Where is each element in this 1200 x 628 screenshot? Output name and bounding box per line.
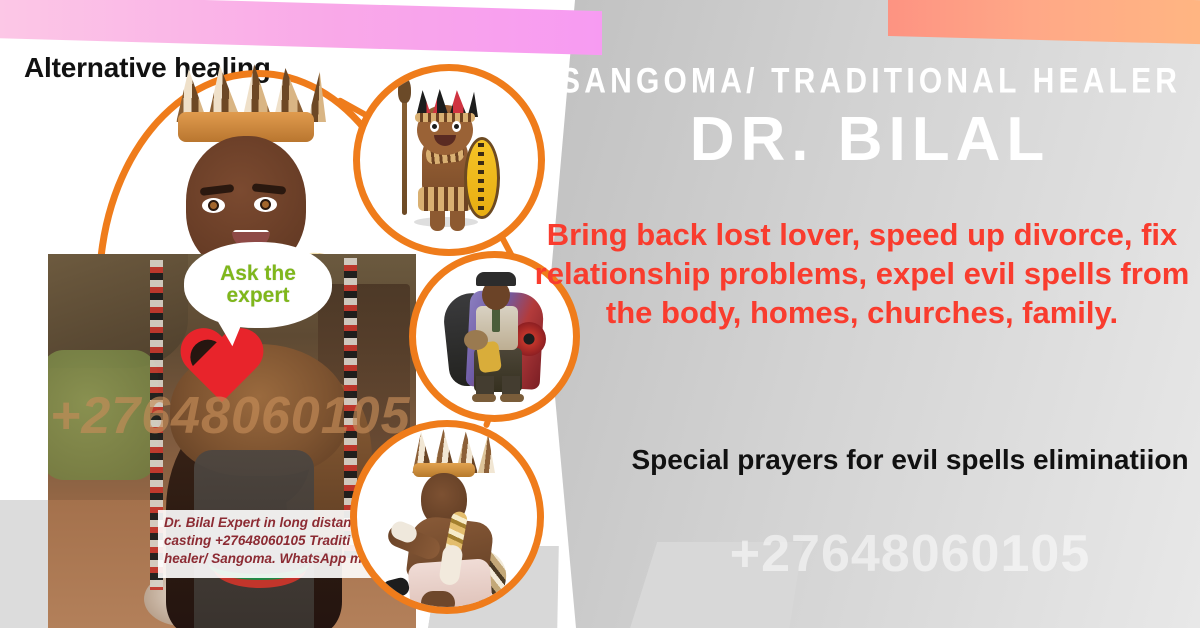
photo-phone-watermark: +27648060105 (50, 386, 430, 446)
speech-bubble-text: Ask the expert (211, 263, 305, 307)
kicker-text: SANGOMA/ TRADITIONAL HEALER (560, 62, 1180, 102)
phone-watermark: +27648060105 (620, 524, 1200, 584)
diviner-hat (476, 272, 516, 286)
poster-canvas: Alternative healing (0, 0, 1200, 628)
hero-pupil-left (208, 200, 219, 211)
pink-gradient-bar (0, 0, 602, 55)
diviner-sandal-right (500, 394, 524, 402)
brand-name: DR. BILAL (560, 104, 1180, 175)
warrior-spear-tip (398, 77, 411, 103)
warrior-shadow (414, 217, 478, 227)
diviner-sandal-left (472, 394, 496, 402)
subheading-text: Special prayers for evil spells eliminat… (620, 442, 1200, 478)
crouching-warrior-illustration (350, 420, 544, 614)
warrior-spear-shaft (402, 89, 407, 215)
caption-line-3: healer/ Sangoma. WhatsApp m (164, 550, 380, 568)
diviner-satchel (464, 330, 488, 350)
crouching-leg (421, 591, 455, 614)
warrior-eye-left (430, 121, 439, 132)
hero-pupil-right (260, 199, 271, 210)
speech-bubble-icon: Ask the expert (184, 242, 332, 328)
warrior-eye-right (452, 121, 461, 132)
zulu-warrior-illustration (353, 64, 545, 256)
caption-line-2: casting +27648060105 Traditi (164, 532, 380, 550)
services-description: Bring back lost lover, speed up divorce,… (524, 216, 1200, 332)
warrior-headband (415, 113, 475, 122)
caption-line-1: Dr. Bilal Expert in long distan (164, 514, 380, 532)
crouching-hand (381, 576, 411, 600)
warrior-shield-pattern (478, 143, 484, 213)
